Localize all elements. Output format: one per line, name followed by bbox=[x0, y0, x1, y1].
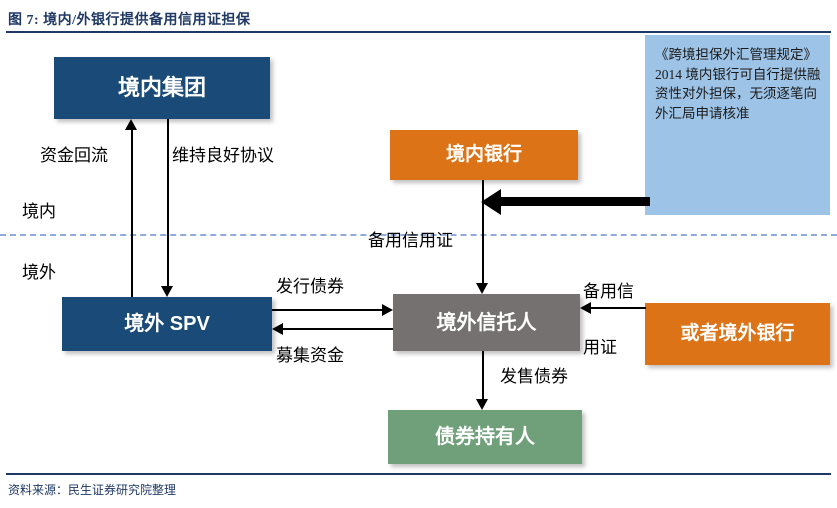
source-rule-bottom bbox=[6, 473, 831, 475]
callout-connector-line bbox=[500, 197, 650, 206]
connector-issue-bonds-arrowhead bbox=[382, 304, 393, 316]
connector-keepwell-arrowhead bbox=[161, 286, 173, 297]
diagram-canvas: 图 7: 境内/外银行提供备用信用证担保 境内集团 境内银行 境外 SPV 境外… bbox=[0, 0, 837, 508]
label-sell-bonds: 发售债券 bbox=[500, 362, 568, 387]
source-note: 资料来源：民生证券研究院整理 bbox=[8, 481, 176, 498]
node-offshore-spv[interactable]: 境外 SPV bbox=[62, 297, 272, 351]
label-issue-bonds: 发行债券 bbox=[276, 272, 344, 297]
connector-capital-return-line bbox=[131, 130, 133, 297]
node-domestic-group[interactable]: 境内集团 bbox=[54, 57, 270, 119]
label-raise-funds: 募集资金 bbox=[276, 341, 344, 366]
connector-sblc-arrowhead bbox=[476, 283, 488, 294]
node-domestic-bank[interactable]: 境内银行 bbox=[390, 130, 578, 180]
connector-raise-funds-arrowhead bbox=[272, 323, 283, 335]
node-offshore-trustee[interactable]: 境外信托人 bbox=[393, 294, 580, 351]
label-capital-return: 资金回流 bbox=[40, 141, 108, 166]
connector-raise-funds-line bbox=[283, 328, 393, 330]
connector-sell-bonds-line bbox=[482, 351, 484, 399]
label-onshore: 境内 bbox=[22, 197, 56, 222]
connector-offshore-sblc-arrowhead bbox=[580, 302, 591, 314]
label-offshore: 境外 bbox=[22, 258, 56, 283]
label-keepwell-agreement: 维持良好协议 bbox=[172, 141, 274, 166]
regulation-callout: 《跨境担保外汇管理规定》2014 境内银行可自行提供融资性对外担保，无须逐笔向外… bbox=[645, 35, 830, 215]
connector-capital-return-arrowhead bbox=[125, 119, 137, 130]
node-bondholders[interactable]: 债券持有人 bbox=[388, 410, 582, 464]
figure-title: 图 7: 境内/外银行提供备用信用证担保 bbox=[8, 9, 251, 29]
label-offshore-sblc-line1: 备用信 bbox=[583, 277, 634, 302]
label-standby-letter-of-credit: 备用信用证 bbox=[368, 226, 453, 251]
connector-keepwell-line bbox=[167, 119, 169, 286]
title-rule-top bbox=[6, 31, 831, 33]
connector-sell-bonds-arrowhead bbox=[476, 399, 488, 410]
node-offshore-bank[interactable]: 或者境外银行 bbox=[645, 303, 830, 365]
label-offshore-sblc-line2: 用证 bbox=[583, 333, 617, 358]
callout-connector-arrowhead bbox=[481, 189, 501, 215]
connector-issue-bonds-line bbox=[272, 309, 382, 311]
connector-offshore-sblc-line bbox=[591, 307, 646, 309]
